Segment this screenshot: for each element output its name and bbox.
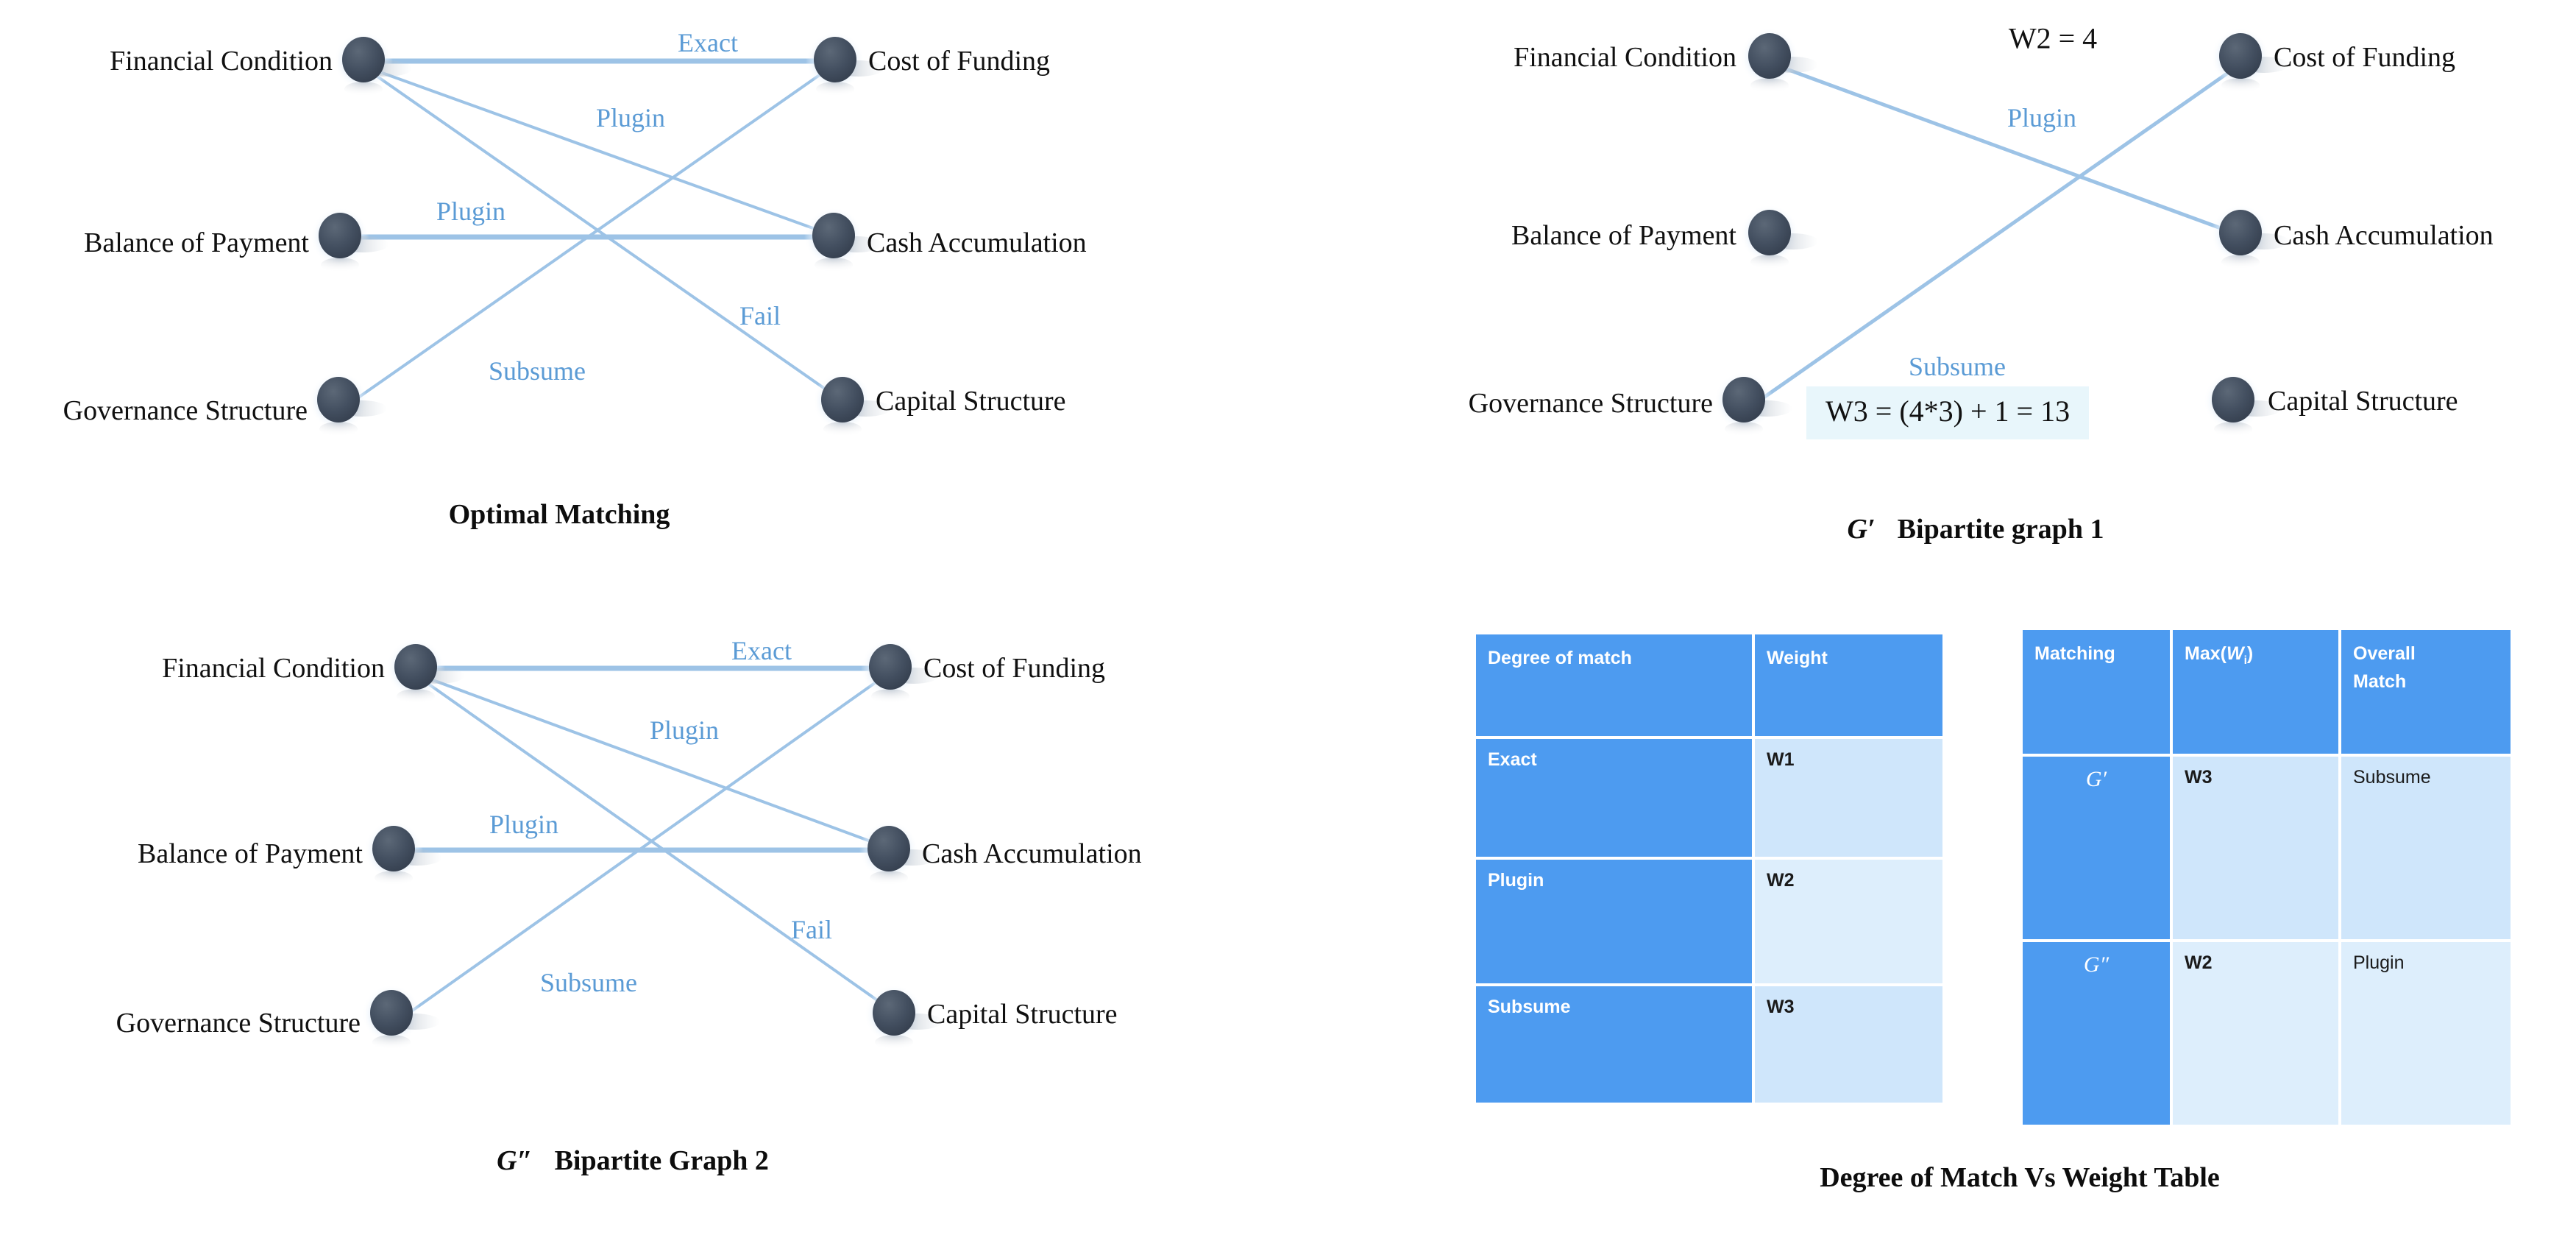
cell-max-w3: W3 [2173,757,2338,939]
graph-symbol-g-double-prime: G″ [497,1145,532,1176]
caption-bipartite-graph-1: G′Bipartite graph 1 [1848,515,2104,543]
node-label-capital-structure: Capital Structure [927,1000,1118,1028]
edge-label-subsume: Subsume [540,969,637,996]
edge-label-exact: Exact [678,29,738,56]
table-header-row: Degree of match Weight [1476,634,1942,736]
table-row: G″ W2 Plugin [2023,942,2511,1125]
edge-label-plugin-top: Plugin [650,717,719,743]
table-header-row: Matching Max(Wi) OverallMatch [2023,630,2511,754]
note-w2: W2 = 4 [2009,21,2097,56]
node-label-financial-condition: Financial Condition [110,47,333,75]
caption-optimal-matching: Optimal Matching [449,500,670,528]
cell-overall-subsume: Subsume [2341,757,2511,939]
th-weight: Weight [1755,634,1942,736]
node-label-cost-of-funding: Cost of Funding [2274,43,2455,71]
cell-weight-w3: W3 [1755,986,1942,1103]
table-row: Subsume W3 [1476,986,1942,1103]
edge-label-plugin-mid: Plugin [489,811,558,838]
caption-bipartite-graph-2: G″Bipartite Graph 2 [497,1147,769,1175]
cell-degree-plugin: Plugin [1476,860,1752,983]
node-label-governance-structure: Governance Structure [1469,389,1713,417]
table-row: Plugin W2 [1476,860,1942,983]
node-label-cash-accumulation: Cash Accumulation [922,840,1142,868]
th-matching: Matching [2023,630,2170,754]
node-label-cash-accumulation: Cash Accumulation [867,229,1087,257]
table-matching-overall: Matching Max(Wi) OverallMatch G′ W3 Subs… [2020,627,2513,1128]
edge-plugin-fc-ca [1775,65,2237,234]
cell-weight-w2: W2 [1755,860,1942,983]
cell-matching-g-prime: G′ [2023,757,2170,939]
table-degree-of-match-weight: Degree of match Weight Exact W1 Plugin W… [1473,632,1945,1106]
panel-optimal-matching: Financial Condition Balance of Payment G… [0,0,1251,559]
cell-matching-g-double-prime: G″ [2023,942,2170,1125]
th-degree-of-match: Degree of match [1476,634,1752,736]
edge-label-exact: Exact [731,637,792,664]
node-label-balance-of-payment: Balance of Payment [1511,222,1736,250]
edge-label-subsume: Subsume [1909,353,2006,380]
node-label-balance-of-payment: Balance of Payment [138,840,363,868]
cell-degree-subsume: Subsume [1476,986,1752,1103]
node-label-balance-of-payment: Balance of Payment [84,229,309,257]
th-max-wi: Max(Wi) [2173,630,2338,754]
edge-label-subsume: Subsume [489,358,586,384]
graph1-edges [1369,0,2576,581]
node-label-capital-structure: Capital Structure [876,387,1066,415]
node-label-capital-structure: Capital Structure [2268,387,2458,415]
edge-label-plugin: Plugin [2007,105,2076,131]
graph2-edges [0,611,1288,1237]
node-label-financial-condition: Financial Condition [162,654,385,682]
cell-overall-plugin: Plugin [2341,942,2511,1125]
cell-max-w2: W2 [2173,942,2338,1125]
table-row: G′ W3 Subsume [2023,757,2511,939]
edge-label-fail: Fail [791,916,832,943]
panel-bipartite-graph-2: Financial Condition Balance of Payment G… [0,611,1288,1237]
cell-weight-w1: W1 [1755,739,1942,857]
edge-label-plugin-top: Plugin [596,105,665,131]
cell-degree-exact: Exact [1476,739,1752,857]
edge-label-fail: Fail [739,303,781,329]
th-overall-match: OverallMatch [2341,630,2511,754]
caption-degree-of-match-vs-weight-table: Degree of Match Vs Weight Table [1820,1161,2220,1194]
node-label-governance-structure: Governance Structure [63,397,308,425]
panel-bipartite-graph-1: Financial Condition Balance of Payment G… [1369,0,2576,581]
node-label-cost-of-funding: Cost of Funding [923,654,1105,682]
node-label-cash-accumulation: Cash Accumulation [2274,222,2494,250]
node-label-governance-structure: Governance Structure [116,1009,361,1037]
graph-symbol-g-prime: G′ [1848,514,1876,545]
node-label-cost-of-funding: Cost of Funding [868,47,1050,75]
note-w3: W3 = (4*3) + 1 = 13 [1806,386,2089,439]
table-row: Exact W1 [1476,739,1942,857]
node-label-financial-condition: Financial Condition [1514,43,1736,71]
edge-label-plugin-mid: Plugin [436,198,505,224]
optimal-matching-edges [0,0,1251,559]
